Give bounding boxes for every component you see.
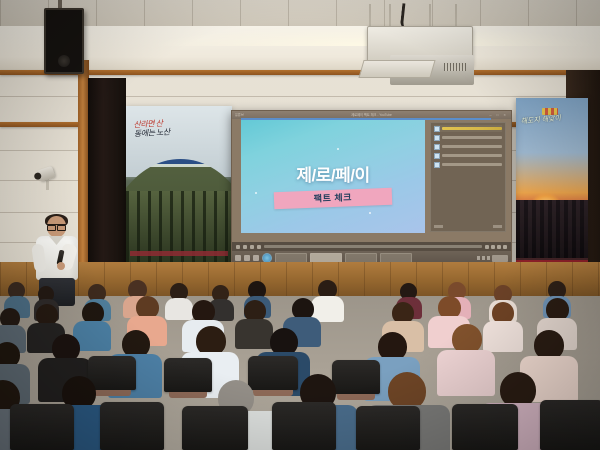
video-subtitle-text: 팩트 체크 — [274, 188, 392, 210]
chair — [88, 356, 136, 390]
settings-icon[interactable] — [485, 245, 489, 249]
ceiling-grid — [0, 0, 600, 26]
video-title-text: 제/로/페/이 — [241, 161, 425, 186]
banner-left-text: 산라면 산 동에는 노산 — [133, 116, 224, 151]
auditorium-scene: 산라면 산 동에는 노산 해도지 해맞이 유튜브 제로페이 팩트 체크 - Yo… — [0, 0, 600, 450]
chair — [272, 402, 336, 450]
playlist-footer — [434, 224, 502, 229]
player-caption-text — [264, 245, 482, 248]
player-right-icons[interactable] — [485, 245, 507, 249]
wall-banner-left: 산라면 산 동에는 노산 — [126, 106, 232, 284]
chair — [332, 360, 380, 394]
loudspeaker-icon — [44, 8, 84, 74]
speaker-driver — [58, 55, 70, 67]
video-player[interactable]: 제/로/페/이 팩트 체크 — [241, 120, 425, 233]
search-icon[interactable] — [244, 255, 250, 261]
chair — [100, 402, 164, 450]
playlist-item[interactable] — [434, 161, 502, 168]
tray-battery-icon[interactable] — [487, 256, 490, 260]
presenter-hand — [57, 262, 65, 270]
wall-banner-right: 해도지 해맞이 — [516, 98, 588, 280]
tray-network-icon[interactable] — [477, 256, 480, 260]
glasses-icon — [47, 224, 66, 229]
task-view-icon[interactable] — [253, 255, 259, 261]
ceiling-projector — [355, 4, 483, 84]
next-icon[interactable] — [250, 245, 254, 249]
chair — [164, 358, 212, 392]
audience-area — [0, 280, 600, 450]
start-button[interactable] — [235, 255, 241, 261]
stage-curtain-left — [88, 78, 126, 290]
wood-trim-1 — [0, 70, 600, 75]
banner-left-red-stripe — [130, 251, 228, 256]
projector-housing-flap — [358, 60, 435, 78]
fullscreen-icon[interactable] — [503, 245, 507, 249]
banner-right-crowd — [516, 200, 588, 258]
video-playlist-panel[interactable] — [430, 122, 506, 232]
projected-desktop: 유튜브 제로페이 팩트 체크 - YouTube ─ □ ✕ 제/로/페/이 팩… — [232, 111, 511, 265]
playlist-item[interactable] — [434, 125, 502, 132]
player-control-bar[interactable] — [232, 242, 511, 251]
video-subtitle-banner: 팩트 체크 — [274, 188, 392, 210]
playlist-item[interactable] — [434, 134, 502, 141]
playlist-prev-icon[interactable] — [434, 225, 443, 228]
chair — [182, 406, 248, 450]
checkbox-icon[interactable] — [434, 162, 440, 168]
chair — [10, 404, 74, 450]
checkbox-icon[interactable] — [434, 135, 440, 141]
playlist-item[interactable] — [434, 143, 502, 150]
banner-right-text: 해도지 해맞이 — [520, 112, 580, 137]
window-controls[interactable]: ─ □ ✕ — [489, 111, 508, 119]
checkbox-icon[interactable] — [434, 153, 440, 159]
volume-icon[interactable] — [257, 245, 261, 249]
tray-volume-icon[interactable] — [482, 256, 485, 260]
playlist-next-icon[interactable] — [493, 225, 502, 228]
prev-icon[interactable] — [243, 245, 247, 249]
chair — [452, 404, 518, 450]
checkbox-icon[interactable] — [434, 126, 440, 132]
chair — [248, 356, 298, 390]
play-icon[interactable] — [236, 245, 240, 249]
taskbar-clock[interactable] — [492, 255, 508, 262]
checkbox-icon[interactable] — [434, 144, 440, 150]
projection-screen: 유튜브 제로페이 팩트 체크 - YouTube ─ □ ✕ 제/로/페/이 팩… — [231, 110, 512, 266]
playlist-item[interactable] — [434, 152, 502, 159]
theater-icon[interactable] — [497, 245, 501, 249]
chair — [356, 406, 420, 450]
chair — [540, 400, 600, 450]
system-tray[interactable] — [477, 255, 508, 262]
captions-icon[interactable] — [491, 245, 495, 249]
